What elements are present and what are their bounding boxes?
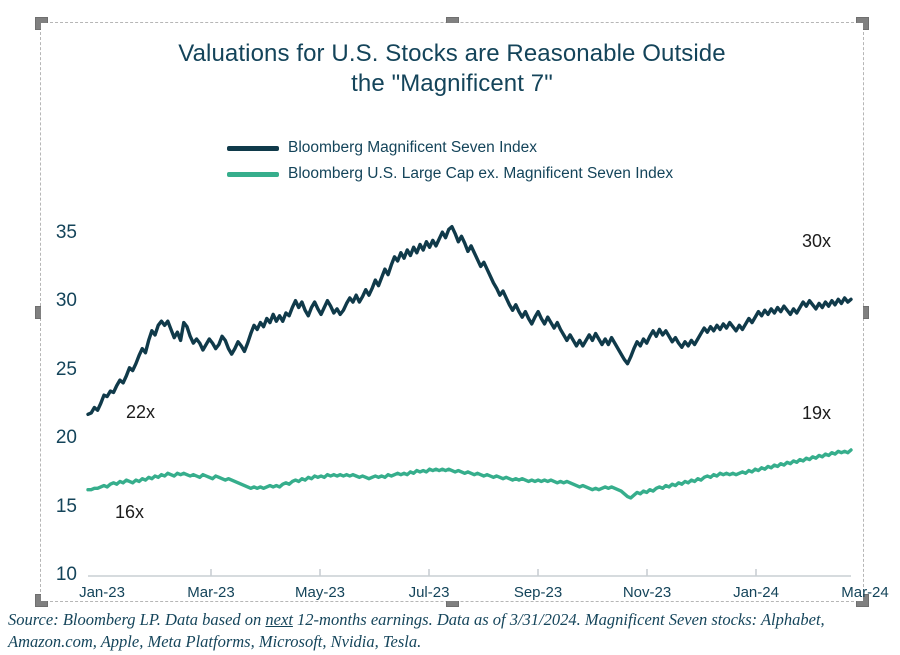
plot-svg bbox=[41, 23, 863, 601]
annotation-19x: 19x bbox=[802, 403, 831, 424]
x-axis-tick-nov-23: Nov-23 bbox=[602, 584, 692, 601]
annotation-22x: 22x bbox=[126, 402, 155, 423]
x-axis-tick-mar-24: Mar-24 bbox=[820, 584, 900, 601]
source-footnote: Source: Bloomberg LP. Data based on next… bbox=[8, 609, 896, 653]
chart-container[interactable]: Valuations for U.S. Stocks are Reasonabl… bbox=[41, 23, 863, 601]
x-axis-tick-mar-23: Mar-23 bbox=[166, 584, 256, 601]
y-axis-tick-20: 20 bbox=[43, 427, 77, 449]
annotation-16x: 16x bbox=[115, 502, 144, 523]
x-axis-tick-jul-23: Jul-23 bbox=[384, 584, 474, 601]
y-axis-tick-25: 25 bbox=[43, 359, 77, 381]
y-axis-tick-10: 10 bbox=[43, 564, 77, 586]
x-axis-tick-sep-23: Sep-23 bbox=[493, 584, 583, 601]
annotation-30x: 30x bbox=[802, 231, 831, 252]
source-emphasis: next bbox=[265, 610, 292, 629]
source-prefix: Source: Bloomberg LP. Data based on bbox=[8, 610, 265, 629]
y-axis-tick-35: 35 bbox=[43, 222, 77, 244]
y-axis-tick-30: 30 bbox=[43, 290, 77, 312]
plot-area: 101520253035 Jan-23Mar-23May-23Jul-23Sep… bbox=[41, 23, 863, 601]
x-axis-tick-jan-23: Jan-23 bbox=[57, 584, 147, 601]
x-axis-tick-jan-24: Jan-24 bbox=[711, 584, 801, 601]
y-axis-tick-15: 15 bbox=[43, 496, 77, 518]
x-axis-tick-may-23: May-23 bbox=[275, 584, 365, 601]
